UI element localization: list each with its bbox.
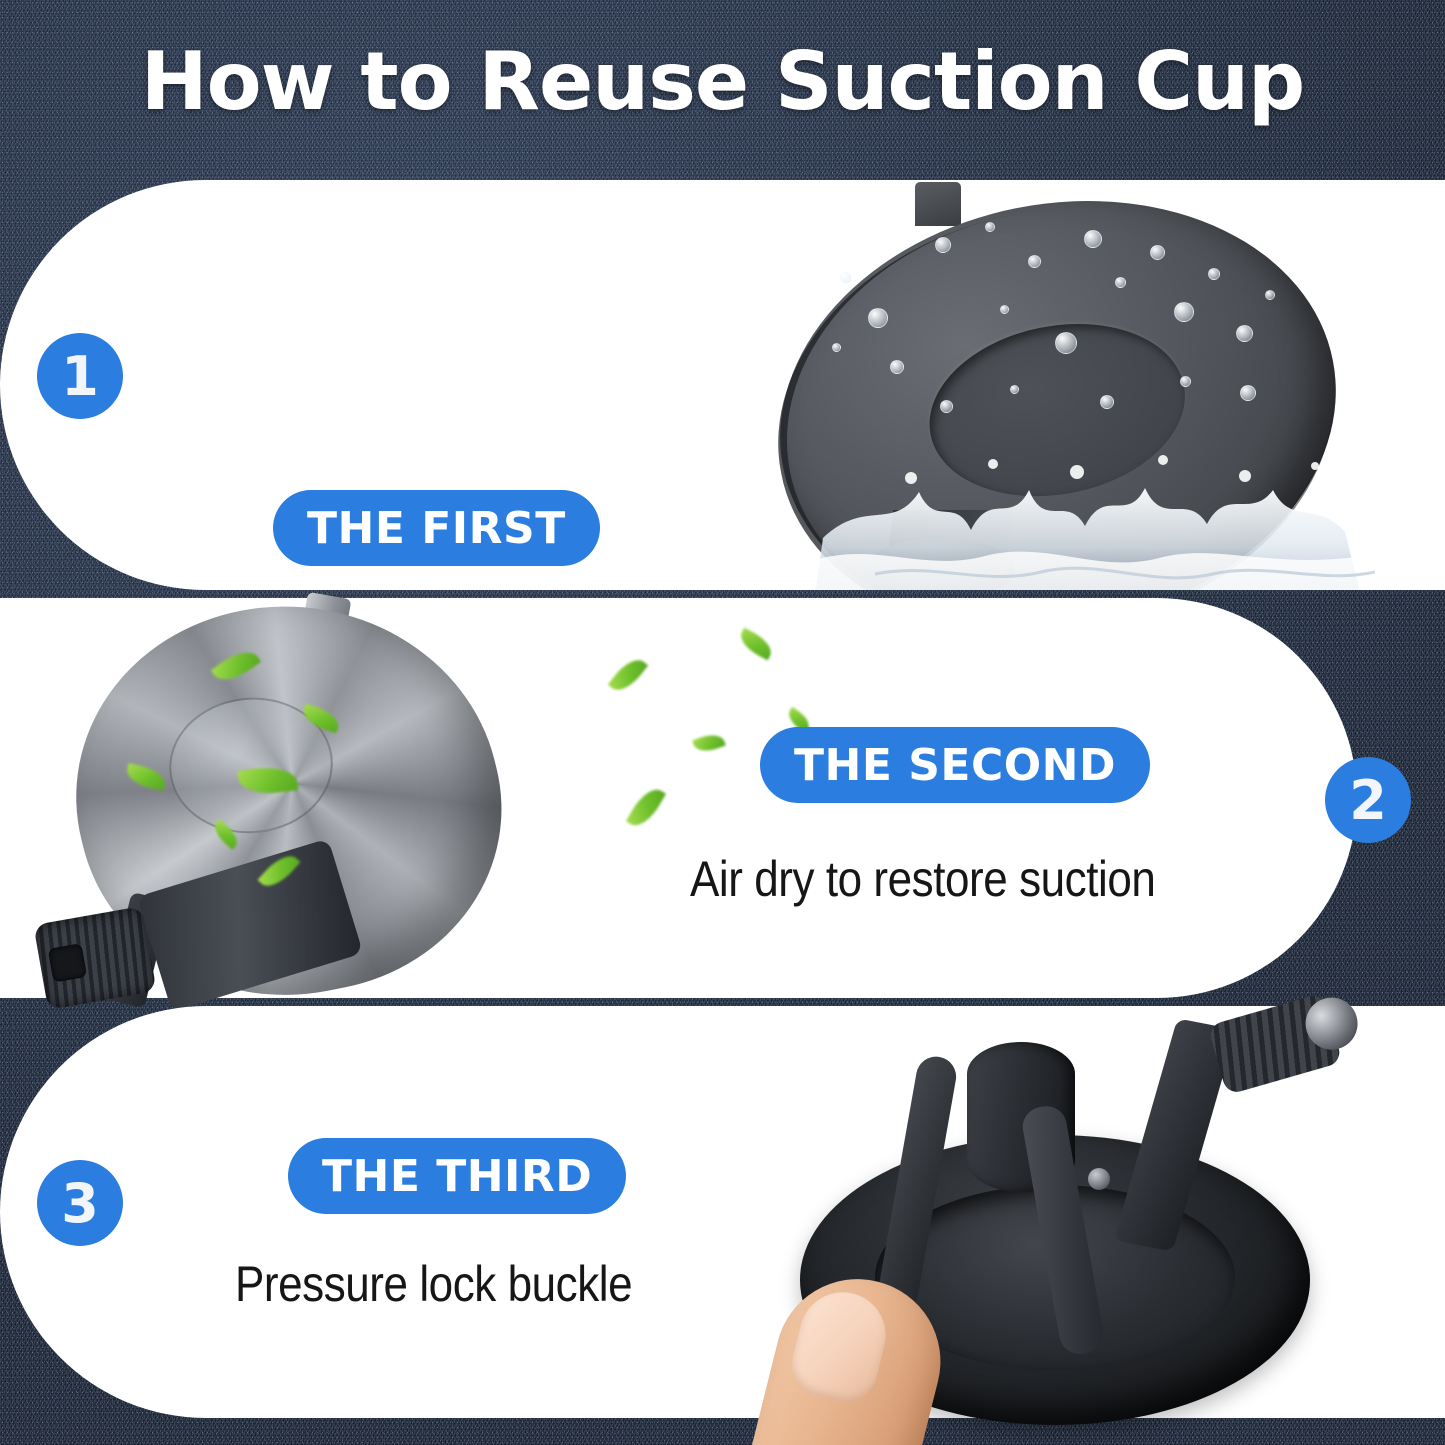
- water-droplet-icon: [1084, 230, 1102, 248]
- step-card-1: THE FIRST Rinse with warm water: [0, 180, 1445, 590]
- water-droplet-icon: [868, 308, 888, 328]
- step-3-image: [745, 1000, 1445, 1445]
- lever-pivot-pin: [1088, 1168, 1110, 1190]
- step-3-pill-label: THE THIRD: [288, 1138, 626, 1214]
- water-droplet-icon: [935, 237, 951, 253]
- water-droplet-icon: [940, 400, 953, 413]
- step-1-caption: Rinse with warm water: [212, 585, 645, 590]
- water-droplet-icon: [1236, 325, 1253, 342]
- step-2-image: [0, 595, 600, 1010]
- water-droplet-icon: [1028, 255, 1041, 268]
- leaf-icon: [626, 783, 666, 832]
- leaf-icon: [736, 628, 776, 661]
- step-1-pill-label: THE FIRST: [273, 490, 600, 566]
- page-title: How to Reuse Suction Cup: [0, 38, 1445, 126]
- step-2-caption: Air dry to restore suction: [690, 850, 1155, 908]
- water-droplet-icon: [1208, 268, 1220, 280]
- water-droplet-icon: [1150, 245, 1165, 260]
- step-2-pill-label: THE SECOND: [760, 727, 1150, 803]
- step-number-badge-2: 2: [1325, 757, 1411, 843]
- water-droplet-icon: [1174, 302, 1194, 322]
- suction-cup-pull-tab-icon: [915, 182, 961, 226]
- leaf-icon: [692, 730, 726, 755]
- water-droplet-icon: [1265, 290, 1275, 300]
- mount-joint-knob: [1207, 993, 1342, 1095]
- water-droplet-icon: [1240, 385, 1256, 401]
- step-number-badge-1: 1: [37, 333, 123, 419]
- water-droplet-icon: [1010, 385, 1019, 394]
- infographic-root: How to Reuse Suction Cup: [0, 0, 1445, 1445]
- step-1-image: [770, 180, 1445, 590]
- water-droplet-icon: [1180, 376, 1191, 387]
- water-droplet-icon: [1000, 305, 1009, 314]
- water-droplet-icon: [832, 343, 841, 352]
- water-droplet-icon: [1100, 395, 1114, 409]
- step-number-badge-3: 3: [37, 1160, 123, 1246]
- water-droplet-icon: [840, 272, 852, 284]
- step-3-caption: Pressure lock buckle: [235, 1255, 632, 1313]
- leaf-icon: [608, 653, 648, 697]
- water-droplet-icon: [1055, 332, 1077, 354]
- suction-cup-rim: [741, 180, 1371, 590]
- water-droplet-icon: [985, 222, 995, 232]
- water-droplet-icon: [1115, 277, 1126, 288]
- water-droplet-icon: [890, 360, 904, 374]
